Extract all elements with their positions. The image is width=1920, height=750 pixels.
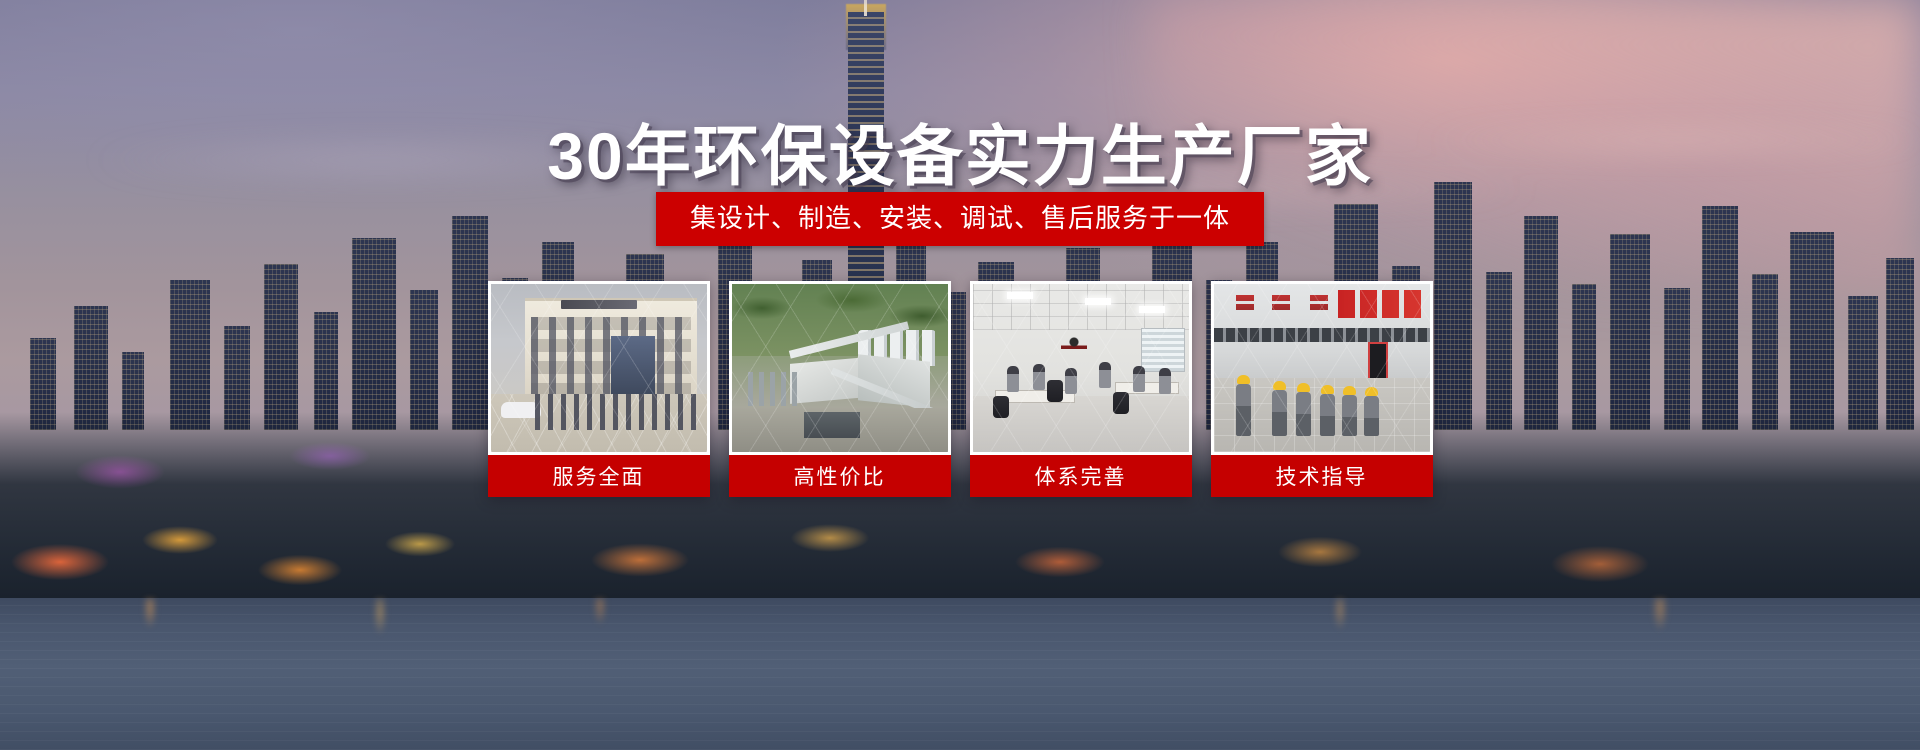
river-reflections <box>0 598 1920 664</box>
scene-factory-workers <box>1214 284 1430 452</box>
card-label-system: 体系完善 <box>970 455 1192 497</box>
building-signage <box>561 300 637 309</box>
card-label-service: 服务全面 <box>488 455 710 497</box>
worker-with-hardhat <box>1272 390 1287 436</box>
office-chair <box>993 396 1009 418</box>
seated-employee <box>1065 368 1077 394</box>
seated-employee <box>1033 364 1045 390</box>
scene-office-building <box>491 284 707 452</box>
wall-emblem <box>1061 334 1087 354</box>
subtitle-ribbon-wrap: 集设计、制造、安装、调试、售后服务于一体 <box>0 192 1920 246</box>
process-stacks <box>748 372 802 406</box>
ceiling-light <box>1139 306 1165 313</box>
seated-employee <box>1007 366 1019 392</box>
ceiling-light <box>1085 298 1111 305</box>
seated-employee <box>1159 368 1171 394</box>
card-photo-industrial-plant <box>732 284 948 452</box>
wall-slogan-text <box>1272 294 1290 310</box>
wall-slogan-text <box>1310 294 1328 310</box>
feature-card-row: 服务全面 高性价比 <box>0 281 1920 497</box>
worker-with-hardhat <box>1342 395 1357 436</box>
feature-card-service[interactable]: 服务全面 <box>488 281 710 497</box>
subtitle-ribbon: 集设计、制造、安装、调试、售后服务于一体 <box>656 192 1264 246</box>
seated-employee <box>1099 362 1111 388</box>
feature-card-value[interactable]: 高性价比 <box>729 281 951 497</box>
factory-red-signage <box>1338 290 1424 318</box>
card-photo-factory-workers <box>1214 284 1430 452</box>
staff-lineup <box>535 394 703 430</box>
worker-with-hardhat <box>1320 394 1335 436</box>
ceiling-light <box>1007 292 1033 299</box>
worker-with-hardhat <box>1236 384 1251 436</box>
scene-aerial-plant <box>732 284 948 452</box>
hero-banner: 30年环保设备实力生产厂家 集设计、制造、安装、调试、售后服务于一体 服务全面 <box>0 0 1920 750</box>
office-chair <box>1113 392 1129 414</box>
feature-card-guidance[interactable]: 技术指导 <box>1211 281 1433 497</box>
card-label-value: 高性价比 <box>729 455 951 497</box>
feature-card-system[interactable]: 体系完善 <box>970 281 1192 497</box>
worker-with-hardhat <box>1364 396 1379 436</box>
page-title: 30年环保设备实力生产厂家 <box>0 103 1920 199</box>
loading-shed <box>804 412 860 438</box>
card-photo-office-interior <box>973 284 1189 452</box>
card-photo-office-building <box>491 284 707 452</box>
card-label-guidance: 技术指导 <box>1211 455 1433 497</box>
scene-office-interior <box>973 284 1189 452</box>
office-window-blinds <box>1141 328 1185 372</box>
factory-door <box>1368 342 1388 380</box>
worker-with-hardhat <box>1296 392 1311 436</box>
office-chair <box>1047 380 1063 402</box>
seated-employee <box>1133 366 1145 392</box>
building-entrance <box>611 336 655 402</box>
wall-slogan-text <box>1236 294 1254 310</box>
